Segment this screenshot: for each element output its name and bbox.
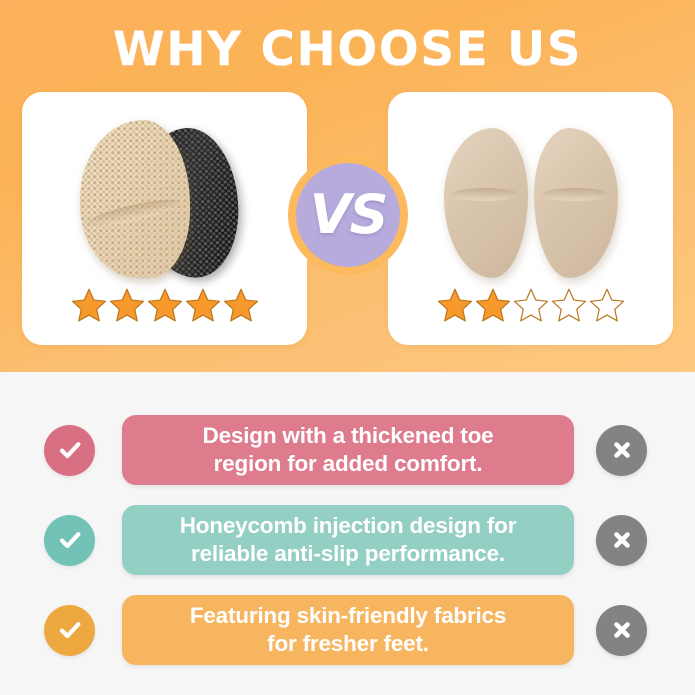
check-icon <box>56 616 84 644</box>
star-filled-icon <box>474 287 512 323</box>
close-badge-2 <box>596 605 647 656</box>
close-badge-1 <box>596 515 647 566</box>
feature-list: Design with a thickened toe region for a… <box>0 372 695 695</box>
feature-row: Design with a thickened toe region for a… <box>0 405 695 495</box>
star-empty-icon <box>588 287 626 323</box>
star-filled-icon <box>70 287 108 323</box>
feature-line-2: region for added comfort. <box>203 450 494 478</box>
feature-line-2: reliable anti-slip performance. <box>180 540 517 568</box>
other-product-card[interactable] <box>388 92 673 345</box>
feature-line-2: for fresher feet. <box>190 630 506 658</box>
vs-badge-circle: VS <box>296 163 400 267</box>
check-icon <box>56 526 84 554</box>
star-filled-icon <box>108 287 146 323</box>
check-badge-1 <box>44 515 95 566</box>
close-icon <box>609 617 635 643</box>
why-choose-us-infographic: WHY CHOOSE US VS <box>0 0 695 695</box>
hero-section: WHY CHOOSE US VS <box>0 0 695 372</box>
check-icon <box>56 436 84 464</box>
feature-line-1: Design with a thickened toe <box>203 422 494 450</box>
rating-stars-right <box>388 287 673 323</box>
close-icon <box>609 527 635 553</box>
our-product-card[interactable] <box>22 92 307 345</box>
feature-line-1: Featuring skin-friendly fabrics <box>190 602 506 630</box>
feature-pill-0: Design with a thickened toe region for a… <box>122 415 574 485</box>
plain-pad-left <box>444 128 528 278</box>
vs-badge: VS <box>288 155 408 275</box>
check-badge-0 <box>44 425 95 476</box>
beige-honeycomb-pad <box>80 120 190 278</box>
feature-row: Featuring skin-friendly fabrics for fres… <box>0 585 695 675</box>
honeycomb-pads-image <box>22 106 307 286</box>
check-badge-2 <box>44 605 95 656</box>
close-icon <box>609 437 635 463</box>
feature-pill-1: Honeycomb injection design for reliable … <box>122 505 574 575</box>
star-filled-icon <box>184 287 222 323</box>
star-empty-icon <box>550 287 588 323</box>
star-empty-icon <box>512 287 550 323</box>
feature-line-1: Honeycomb injection design for <box>180 512 517 540</box>
star-filled-icon <box>146 287 184 323</box>
plain-pads-image <box>388 106 673 286</box>
feature-row: Honeycomb injection design for reliable … <box>0 495 695 585</box>
rating-stars-left <box>22 287 307 323</box>
star-filled-icon <box>222 287 260 323</box>
close-badge-0 <box>596 425 647 476</box>
page-title: WHY CHOOSE US <box>0 23 695 77</box>
star-filled-icon <box>436 287 474 323</box>
vs-label: VS <box>310 188 387 242</box>
feature-pill-2: Featuring skin-friendly fabrics for fres… <box>122 595 574 665</box>
plain-pad-right <box>534 128 618 278</box>
